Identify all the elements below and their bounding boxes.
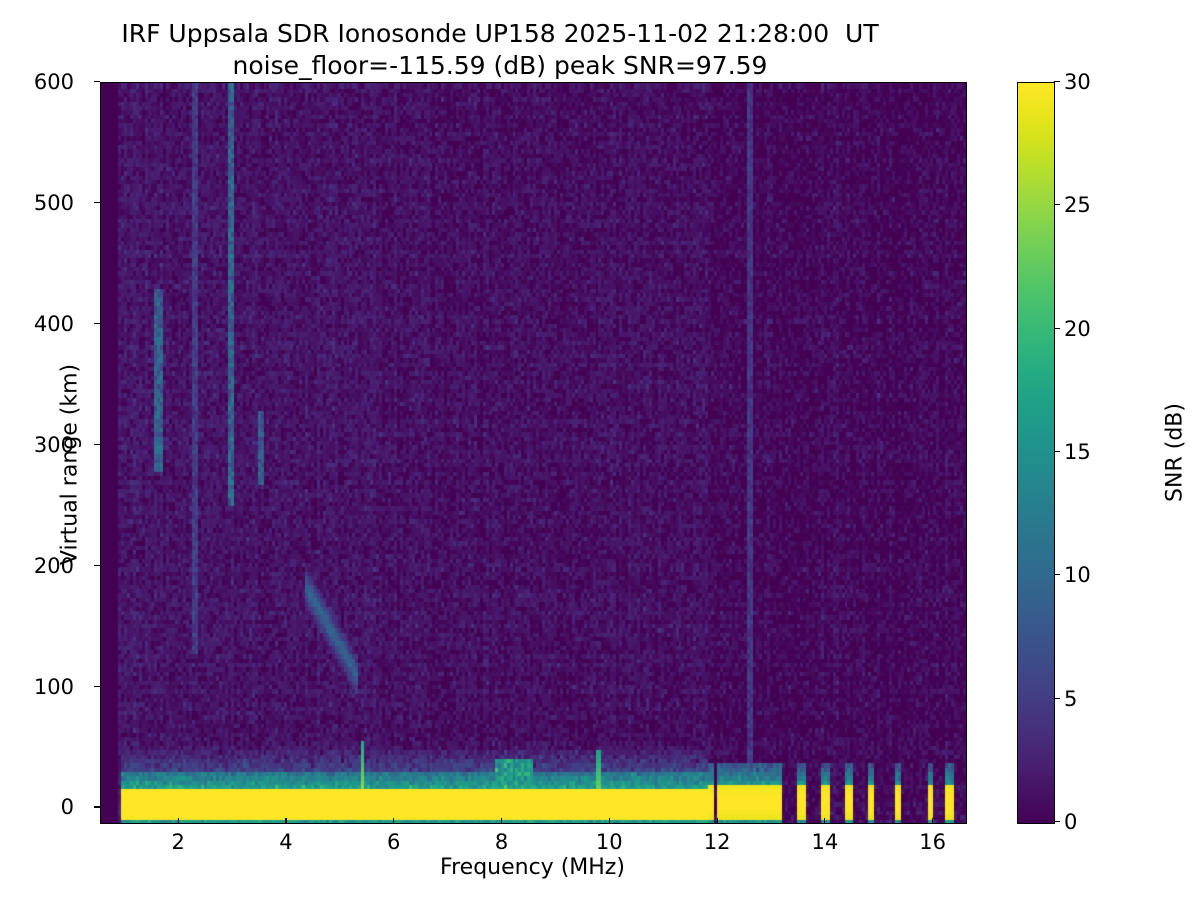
title-line-2: noise_floor=-115.59 (dB) peak SNR=97.59 bbox=[0, 50, 1000, 82]
title-line-1: IRF Uppsala SDR Ionosonde UP158 2025-11-… bbox=[0, 18, 1000, 50]
colorbar[interactable] bbox=[1017, 82, 1055, 824]
y-axis-label: Virtual range (km) bbox=[58, 95, 83, 835]
x-axis-label: Frequency (MHz) bbox=[100, 855, 965, 880]
ionogram-figure: IRF Uppsala SDR Ionosonde UP158 2025-11-… bbox=[0, 0, 1200, 900]
colorbar-gradient bbox=[1018, 83, 1054, 823]
ionogram-heatmap[interactable] bbox=[101, 83, 966, 823]
y-tick-600: 600 bbox=[6, 69, 84, 95]
figure-title: IRF Uppsala SDR Ionosonde UP158 2025-11-… bbox=[0, 18, 1000, 82]
ionogram-plot-area[interactable] bbox=[100, 82, 967, 824]
colorbar-label: SNR (dB) bbox=[1163, 83, 1188, 823]
